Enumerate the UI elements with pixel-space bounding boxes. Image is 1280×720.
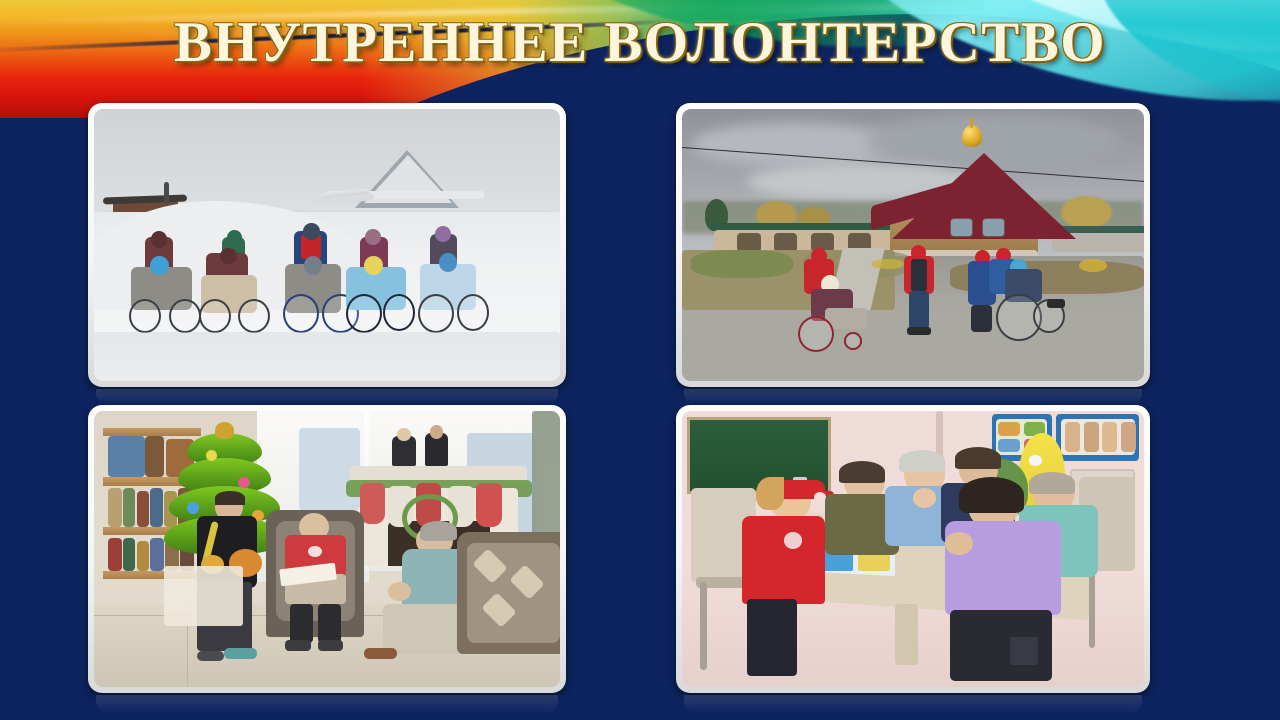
slide-title: ВНУТРЕННЕЕ ВОЛОНТЕРСТВО (0, 14, 1280, 71)
photo-image-bottom-right (682, 411, 1144, 687)
photo-reflection (684, 695, 1142, 713)
photo-frame-top-right[interactable] (676, 103, 1150, 387)
photo-frame-bottom-left[interactable] (88, 405, 566, 693)
photo-reflection (96, 695, 558, 713)
photo-image-top-left (94, 109, 560, 381)
presentation-slide: ВНУТРЕННЕЕ ВОЛОНТЕРСТВО (0, 0, 1280, 720)
photo-image-top-right (682, 109, 1144, 381)
photo-image-bottom-left (94, 411, 560, 687)
photo-reflection (684, 389, 1142, 405)
photo-reflection (96, 389, 558, 405)
photo-frame-top-left[interactable] (88, 103, 566, 387)
photo-frame-bottom-right[interactable] (676, 405, 1150, 693)
